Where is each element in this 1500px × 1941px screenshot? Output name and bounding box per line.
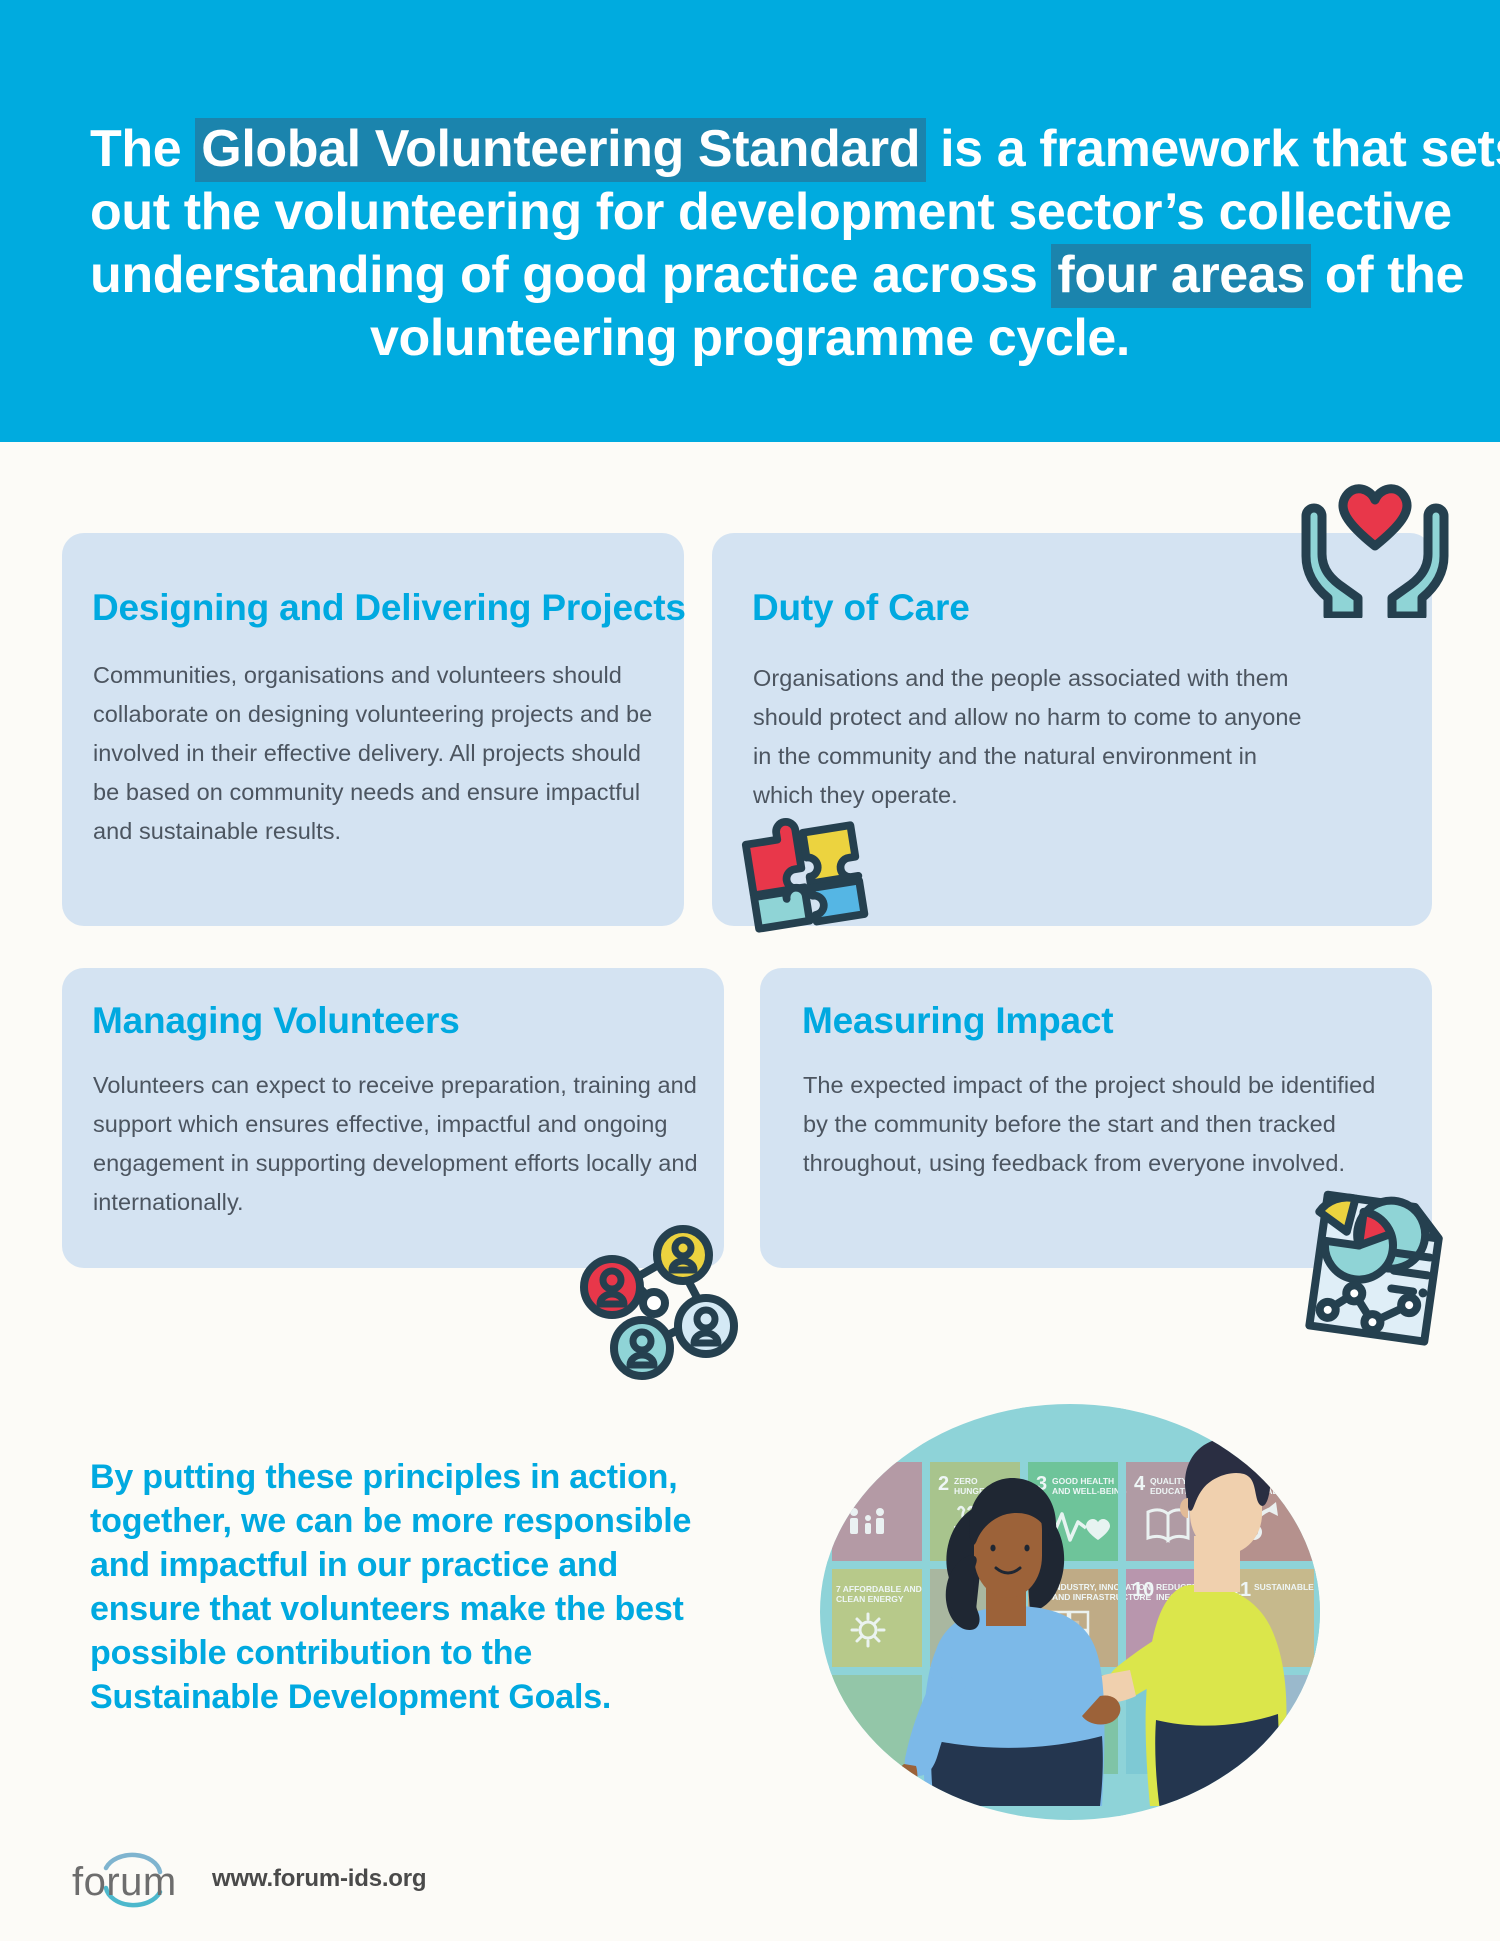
heart-in-hands-icon: [1290, 478, 1460, 618]
svg-text:6: 6: [1330, 1473, 1341, 1495]
puzzle-icon: [733, 795, 878, 945]
closing-statement: By putting these principles in action, t…: [90, 1455, 710, 1719]
heart-shape: [1343, 489, 1407, 546]
svg-text:1: 1: [840, 1473, 851, 1495]
forum-logo: forum: [72, 1848, 190, 1910]
header-line-1-post: is a framework that sets: [926, 120, 1500, 178]
card-title: Duty of Care: [752, 588, 970, 628]
card-body: Communities, organisations and volunteer…: [93, 656, 653, 851]
header-line-3-post: of the: [1311, 246, 1464, 304]
card-designing-and-delivering-projects: Designing and Delivering Projects Commun…: [62, 533, 684, 926]
avatar-teal: [614, 1320, 670, 1376]
footer: forum www.forum-ids.org: [72, 1848, 426, 1910]
svg-text:GOOD HEALTH: GOOD HEALTH: [1052, 1476, 1114, 1486]
card-body: The expected impact of the project shoul…: [803, 1066, 1383, 1183]
footer-url[interactable]: www.forum-ids.org: [212, 1865, 426, 1893]
man-trousers: [1155, 1714, 1278, 1810]
header-highlight-four-areas: four areas: [1051, 244, 1310, 308]
header-line-4: volunteering programme cycle.: [90, 307, 1410, 370]
svg-text:4: 4: [1134, 1473, 1146, 1495]
card-body: Volunteers can expect to receive prepara…: [93, 1066, 703, 1222]
header-text-block: The Global Volunteering Standard is a fr…: [90, 118, 1410, 370]
infographic-page: The Global Volunteering Standard is a fr…: [0, 0, 1500, 1941]
svg-text:7 AFFORDABLE AND: 7 AFFORDABLE AND: [836, 1584, 922, 1594]
svg-text:AND WELL-BEING: AND WELL-BEING: [1052, 1486, 1127, 1496]
people-network-icon: [580, 1225, 740, 1380]
avatar-red: [584, 1259, 640, 1315]
header-highlight-standard: Global Volunteering Standard: [195, 118, 926, 182]
card-managing-volunteers: Managing Volunteers Volunteers can expec…: [62, 968, 724, 1268]
card-title: Measuring Impact: [802, 1001, 1113, 1041]
svg-text:10: 10: [1132, 1579, 1154, 1601]
forum-logo-text: forum: [72, 1860, 177, 1905]
svg-text:12: 12: [1328, 1579, 1350, 1601]
card-body: Organisations and the people associated …: [753, 659, 1313, 815]
report-chart-icon: [1298, 1188, 1453, 1348]
header-line-2: out the volunteering for development sec…: [90, 181, 1410, 244]
svg-text:ZERO: ZERO: [954, 1476, 978, 1486]
card-title: Designing and Delivering Projects: [92, 588, 686, 628]
card-title: Managing Volunteers: [92, 1001, 460, 1041]
header-line-3-pre: understanding of good practice across: [90, 246, 1051, 304]
svg-text:SUSTAINABLE CITIES: SUSTAINABLE CITIES: [1254, 1582, 1344, 1592]
header-line-3: understanding of good practice across fo…: [90, 244, 1410, 307]
sdg-wall-handshake-illustration: 1 2 ZERO HUNGER 3 GOOD HEALTH AND WELL-B…: [790, 1390, 1350, 1830]
header-line-1: The Global Volunteering Standard is a fr…: [90, 118, 1410, 181]
avatar-lightblue: [678, 1298, 734, 1354]
svg-text:2: 2: [938, 1473, 949, 1495]
svg-text:QUALITY: QUALITY: [1150, 1476, 1188, 1486]
header-banner: The Global Volunteering Standard is a fr…: [0, 0, 1500, 442]
svg-text:CLEAN ENERGY: CLEAN ENERGY: [836, 1594, 904, 1604]
header-line-1-pre: The: [90, 120, 195, 178]
woman-hand-left: [894, 1764, 918, 1814]
avatar-yellow: [657, 1229, 709, 1281]
